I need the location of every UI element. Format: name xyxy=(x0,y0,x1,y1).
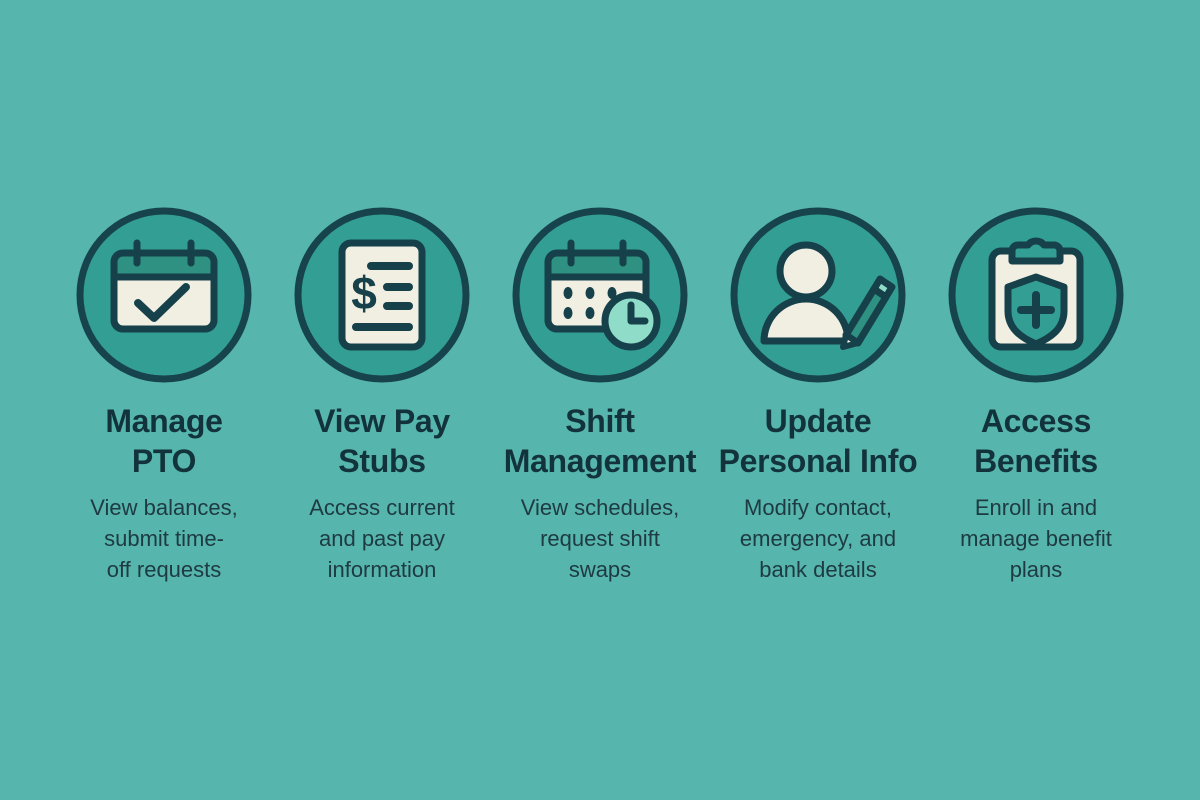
card-description: Enroll in and manage benefit plans xyxy=(960,492,1112,585)
card-description: Access current and past pay information xyxy=(309,492,455,585)
clipboard-shield-icon xyxy=(946,205,1126,385)
card-description: View schedules, request shift swaps xyxy=(521,492,680,585)
pay-stub-document-icon: $ xyxy=(292,205,472,385)
card-title: Manage PTO xyxy=(105,401,222,481)
feature-card-update-personal-info[interactable]: Update Personal Info Modify contact, eme… xyxy=(709,205,927,585)
card-title: View Pay Stubs xyxy=(314,401,450,481)
calendar-clock-icon xyxy=(510,205,690,385)
card-description: View balances, submit time- off requests xyxy=(90,492,238,585)
calendar-check-icon xyxy=(74,205,254,385)
person-edit-icon xyxy=(728,205,908,385)
card-title: Access Benefits xyxy=(974,401,1098,481)
card-title: Update Personal Info xyxy=(719,401,918,481)
feature-card-shift-management[interactable]: Shift Management View schedules, request… xyxy=(491,205,709,585)
infographic-canvas: Manage PTO View balances, submit time- o… xyxy=(0,0,1200,800)
svg-text:$: $ xyxy=(351,267,377,319)
card-title: Shift Management xyxy=(504,401,697,481)
feature-card-view-pay-stubs[interactable]: $ View Pay Stubs Access current and past… xyxy=(273,205,491,585)
card-description: Modify contact, emergency, and bank deta… xyxy=(740,492,896,585)
feature-card-manage-pto[interactable]: Manage PTO View balances, submit time- o… xyxy=(55,205,273,585)
feature-card-row: Manage PTO View balances, submit time- o… xyxy=(0,205,1200,585)
feature-card-access-benefits[interactable]: Access Benefits Enroll in and manage ben… xyxy=(927,205,1145,585)
